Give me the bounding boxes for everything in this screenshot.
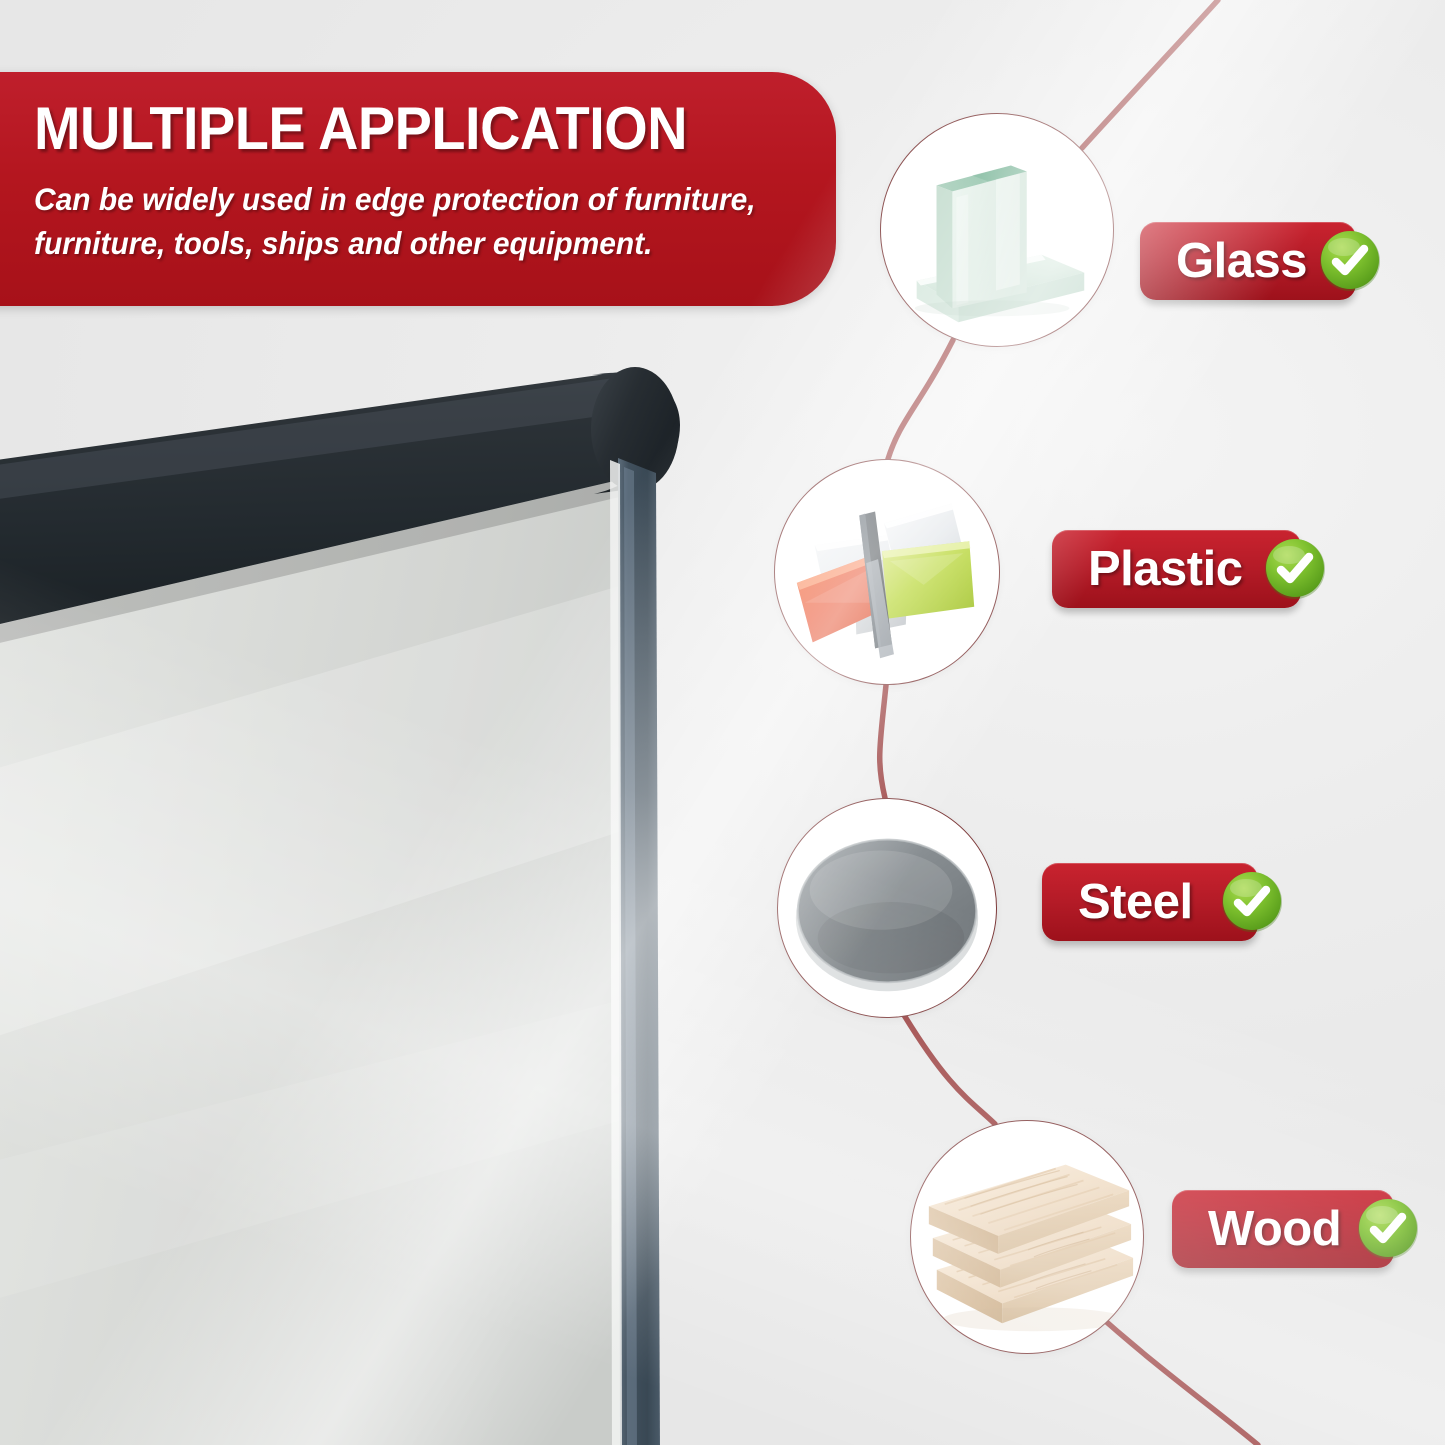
infographic-canvas: Glass — [0, 0, 1445, 1445]
callout-circle-wood — [910, 1120, 1144, 1354]
badge-wood[interactable]: Wood — [1172, 1190, 1394, 1268]
badge-label-plastic: Plastic — [1088, 541, 1242, 597]
connector-steel-to-wood — [904, 1015, 995, 1124]
product-photo — [0, 355, 770, 1445]
badge-label-wood: Wood — [1208, 1201, 1341, 1257]
page-title: MULTIPLE APPLICATION — [34, 98, 743, 160]
badge-glass[interactable]: Glass — [1140, 222, 1356, 300]
callout-circle-glass — [880, 113, 1114, 347]
panel-edge-strip — [618, 458, 660, 1445]
badge-steel[interactable]: Steel — [1042, 863, 1258, 941]
green-check-icon — [1356, 1197, 1420, 1261]
callout-circle-plastic — [774, 459, 1000, 685]
badge-label-steel: Steel — [1078, 874, 1193, 930]
green-check-icon — [1318, 229, 1382, 293]
badge-label-glass: Glass — [1176, 233, 1307, 289]
badge-plastic[interactable]: Plastic — [1052, 530, 1301, 608]
connector-plastic-to-steel — [880, 685, 886, 798]
connector-glass-to-plastic — [888, 340, 953, 459]
banner-description: Can be widely used in edge protection of… — [34, 178, 758, 265]
green-check-icon — [1263, 537, 1327, 601]
header-banner: MULTIPLE APPLICATION Can be widely used … — [0, 72, 836, 306]
green-check-icon — [1220, 870, 1284, 934]
callout-circle-steel — [777, 798, 997, 1018]
